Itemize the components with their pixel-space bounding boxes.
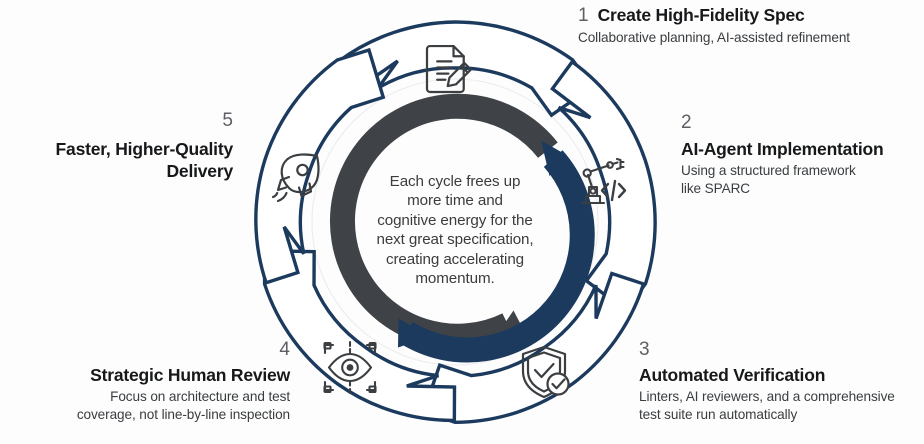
diagram-canvas: Each cycle frees up more time and cognit…: [0, 0, 924, 444]
step-title-5-line-1: Faster, Higher-Quality: [8, 138, 233, 160]
center-statement: Each cycle frees up more time and cognit…: [355, 172, 555, 288]
step-description-2-line-1: Using a structured framework: [681, 162, 924, 180]
step-description-3-line-1: Linters, AI reviewers, and a comprehensi…: [639, 388, 924, 406]
step-description-3-line-2: test suite run automatically: [639, 406, 924, 424]
center-line: next great specification,: [355, 230, 555, 249]
step-number-4: 4: [30, 339, 290, 361]
center-line: more time and: [355, 191, 555, 210]
step-number-5: 5: [8, 110, 233, 132]
step-description-2-line-2: like SPARC: [681, 180, 924, 198]
step-callout-4[interactable]: 4 Strategic Human Review Focus on archit…: [30, 339, 290, 423]
center-line: momentum.: [355, 269, 555, 288]
step-description-1: Collaborative planning, AI-assisted refi…: [578, 29, 924, 47]
step-number-2: 2: [681, 112, 924, 134]
step-callout-1[interactable]: 1 Create High-Fidelity Spec Collaborativ…: [578, 4, 924, 47]
step-title-1: Create High-Fidelity Spec: [598, 4, 805, 26]
center-line: Each cycle frees up: [355, 172, 555, 191]
step-number-3: 3: [639, 339, 924, 361]
step-callout-5[interactable]: 5 Faster, Higher-Quality Delivery: [8, 110, 233, 182]
step-description-4-line-2: coverage, not line-by-line inspection: [30, 406, 290, 424]
center-line: cognitive energy for the: [355, 211, 555, 230]
step-title-5-line-2: Delivery: [8, 160, 233, 182]
step-callout-2[interactable]: 2 AI-Agent Implementation Using a struct…: [681, 112, 924, 197]
step-number-1: 1: [578, 5, 589, 27]
step-title-2: AI-Agent Implementation: [681, 138, 924, 160]
step-title-3: Automated Verification: [639, 364, 924, 386]
center-line: creating accelerating: [355, 250, 555, 269]
step-description-4-line-1: Focus on architecture and test: [30, 388, 290, 406]
step-callout-3[interactable]: 3 Automated Verification Linters, AI rev…: [639, 339, 924, 423]
step-title-4: Strategic Human Review: [30, 364, 290, 386]
